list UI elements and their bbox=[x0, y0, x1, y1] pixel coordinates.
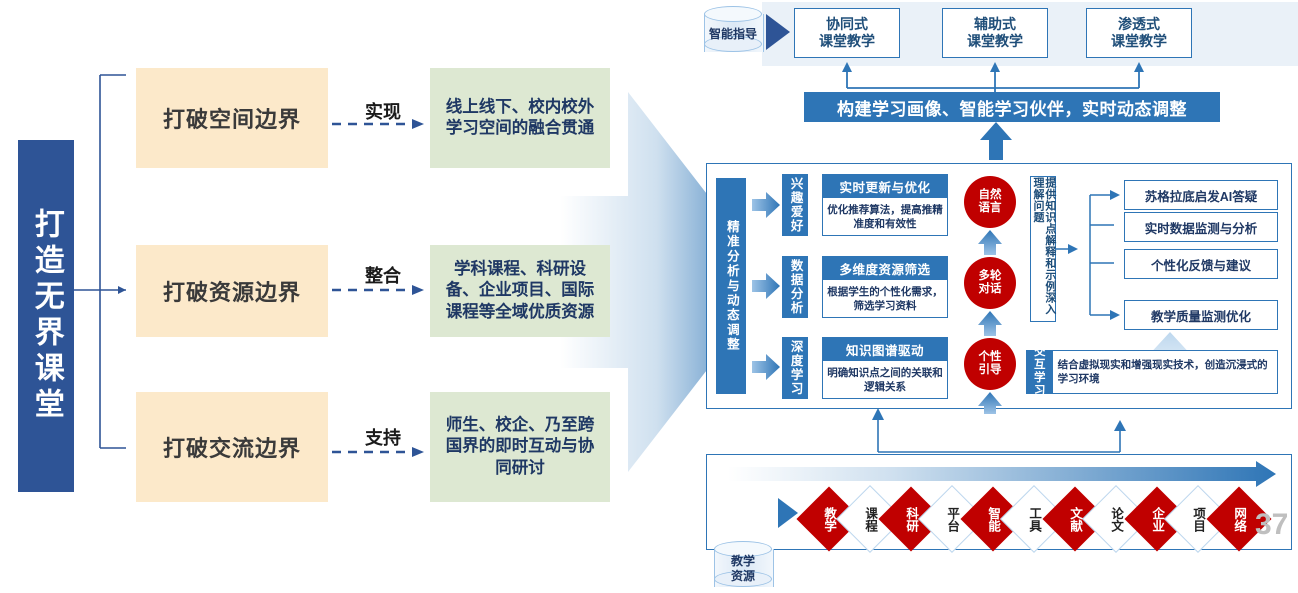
resource-label-4: 平台 bbox=[946, 507, 959, 532]
page-number: 37 bbox=[1255, 508, 1288, 542]
resource-label-3: 科研 bbox=[905, 507, 918, 532]
teaching-resources-line-2: 资源 bbox=[731, 569, 755, 584]
resource-label-10: 项目 bbox=[1192, 507, 1205, 532]
intelligent-guidance-label: 智能指导 bbox=[709, 27, 757, 42]
resource-diamond-chain: 教学 课程 科研 平台 智能 工具 文献 论文 企业 项目 网络 bbox=[800, 489, 1292, 549]
teaching-resources-line-1: 教学 bbox=[731, 554, 755, 569]
resource-label-6: 工具 bbox=[1028, 507, 1041, 532]
right-panel: 智能指导 协同式 课堂教学 辅助式 课堂教学 渗透式 课堂教学 构建学习画像、智… bbox=[700, 0, 1298, 558]
left-panel: 打造无界课堂 打破空间边界 实现 线上线下、校内校外学习空间的融合贯通 打破资源… bbox=[0, 0, 700, 558]
outcome-label-3: 师生、校企、乃至跨国界的即时互动与协同研讨 bbox=[438, 415, 602, 479]
resource-label-8: 论文 bbox=[1110, 507, 1123, 532]
resource-label-1: 教学 bbox=[823, 507, 836, 532]
outcome-box-3[interactable]: 师生、校企、乃至跨国界的即时互动与协同研讨 bbox=[430, 392, 610, 502]
resource-label-7: 文献 bbox=[1069, 507, 1082, 532]
resources-source-arrow-icon bbox=[700, 0, 1298, 558]
resource-label-11: 网络 bbox=[1233, 507, 1246, 532]
resource-label-9: 企业 bbox=[1151, 507, 1164, 532]
resource-label-2: 课程 bbox=[864, 507, 877, 532]
resource-label-5: 智能 bbox=[987, 507, 1000, 532]
